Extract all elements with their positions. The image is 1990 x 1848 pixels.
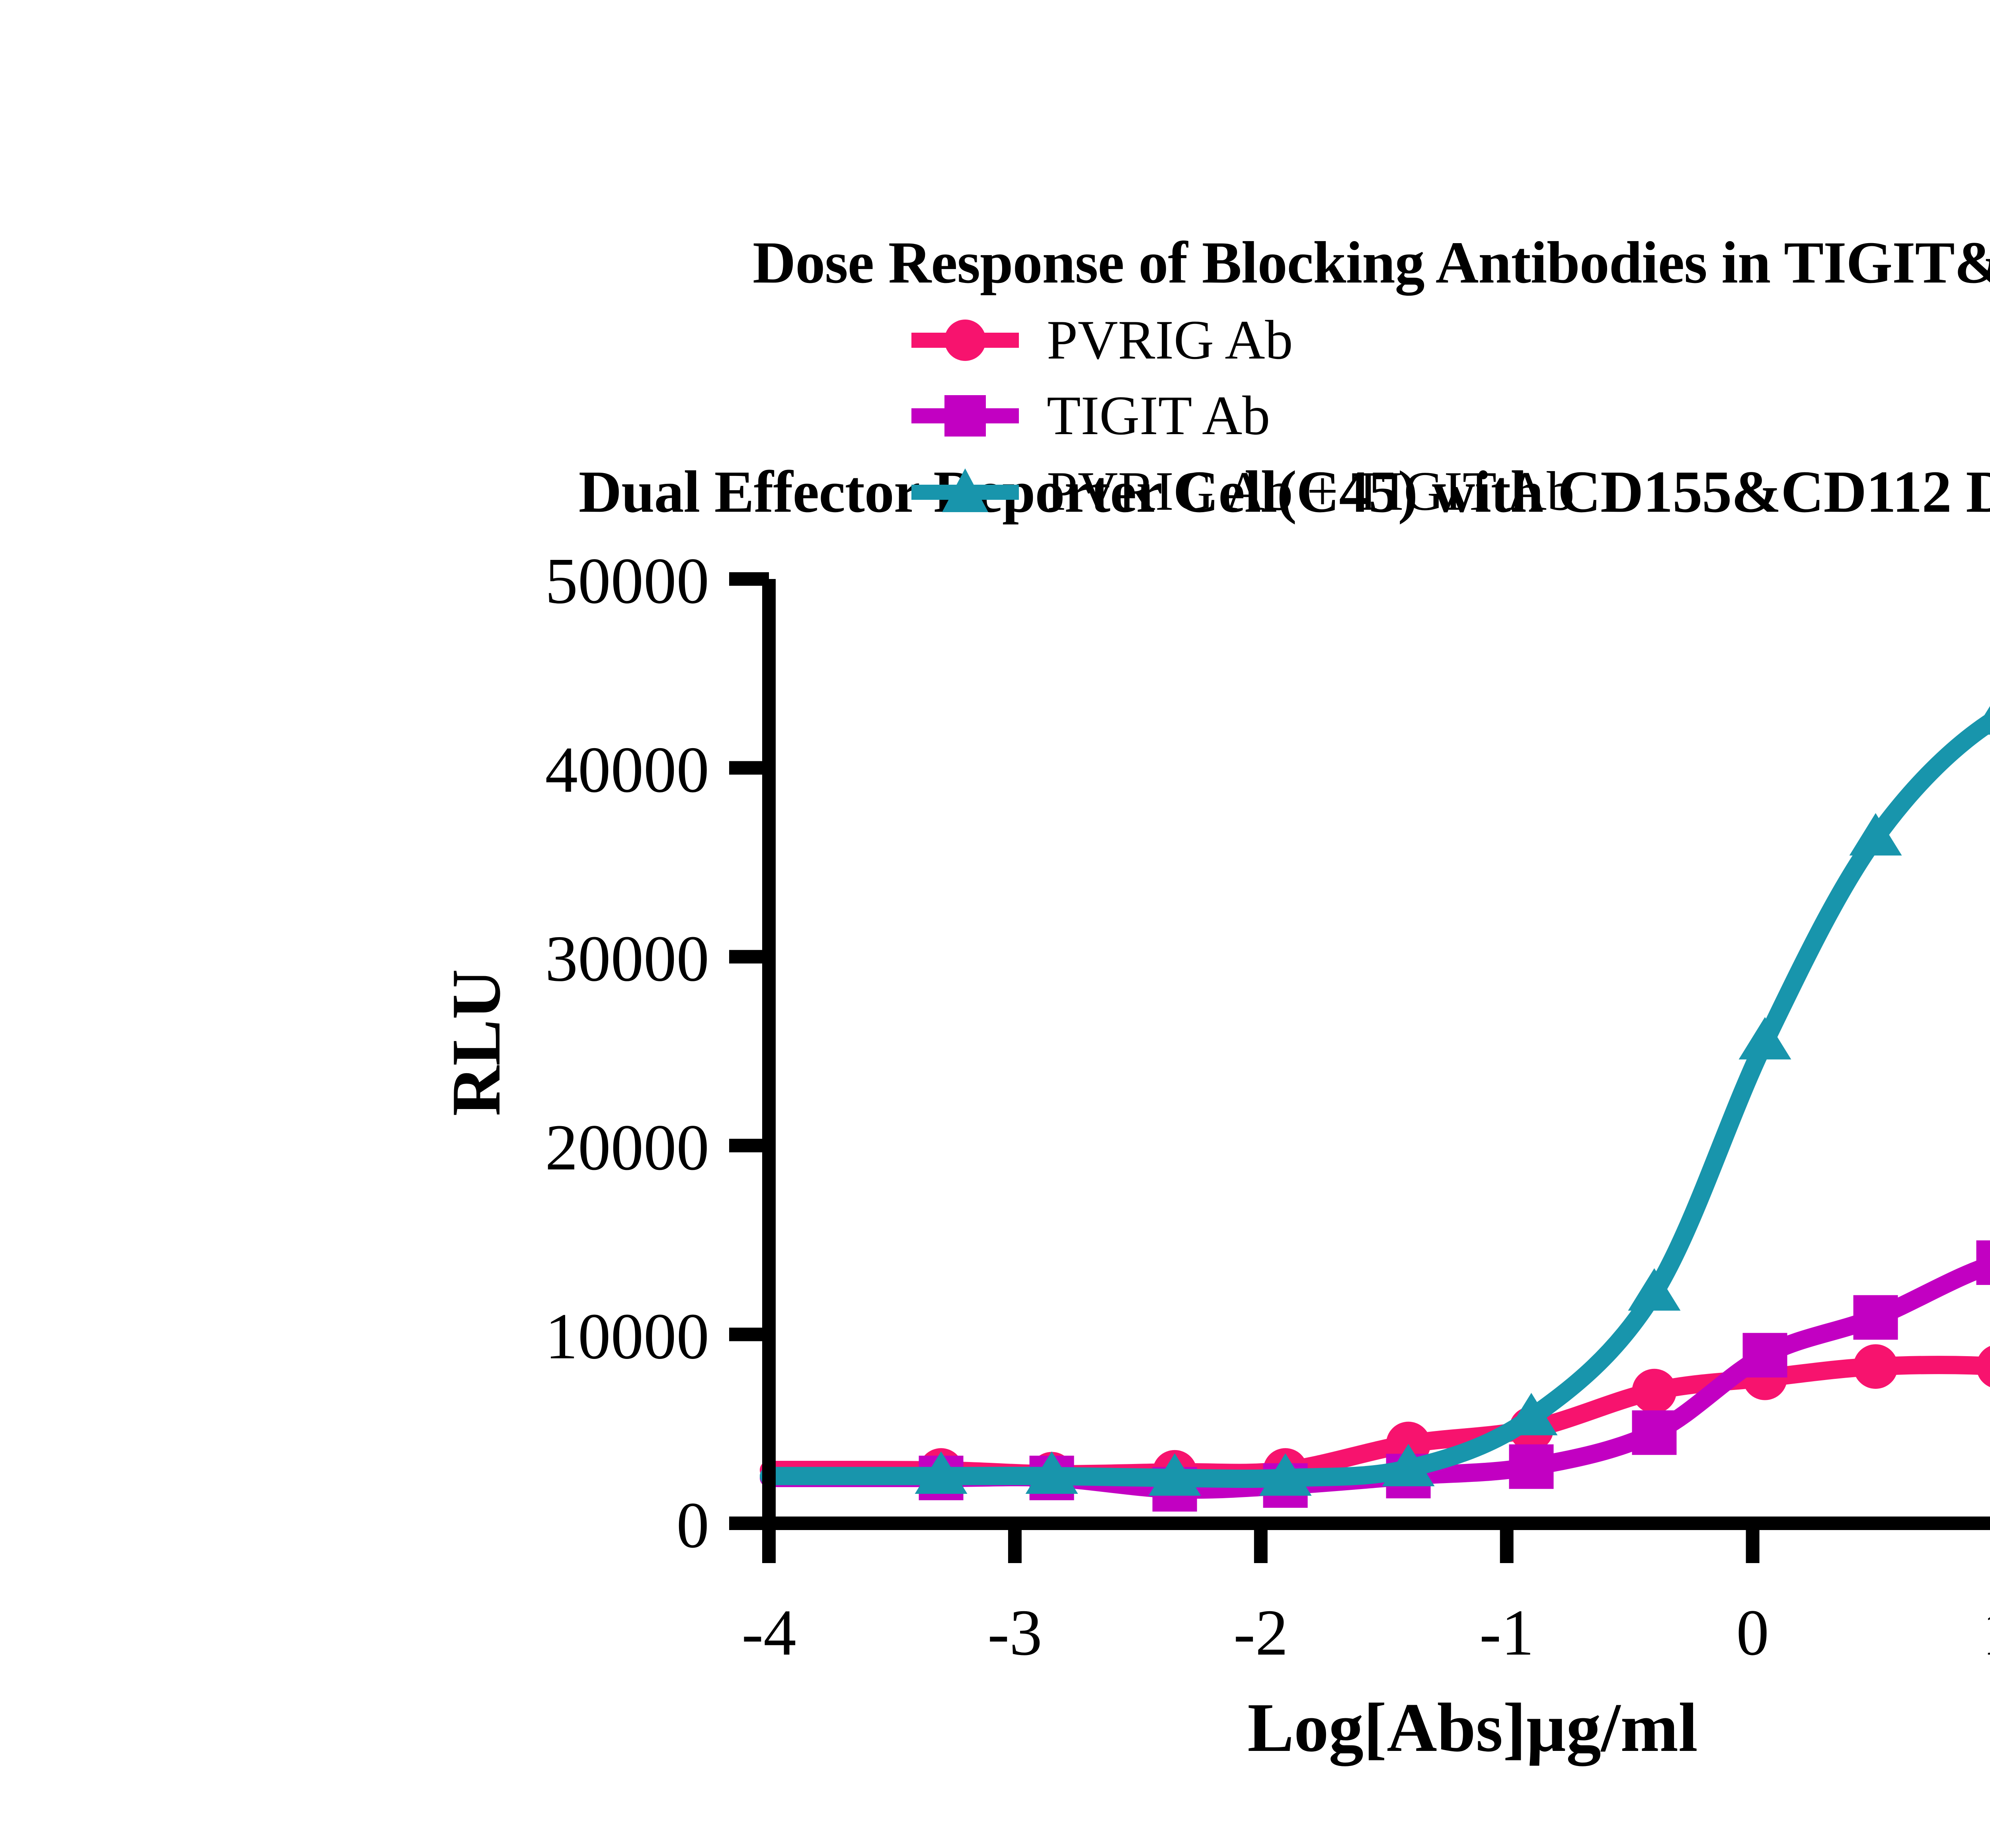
y-tick-label: 0 — [677, 1489, 710, 1561]
x-axis-title: Log[Abs]µg/ml — [1247, 1689, 1697, 1766]
y-tick-label: 20000 — [545, 1111, 710, 1184]
data-point-circle-icon — [1632, 1369, 1676, 1413]
y-tick-label: 40000 — [545, 733, 710, 806]
data-point-square-icon — [1853, 1295, 1898, 1340]
chart-canvas: 01000020000300004000050000 -4-3-2-101 RL… — [0, 0, 1990, 1848]
y-axis-title: RLU — [437, 969, 515, 1116]
data-point-square-icon — [1743, 1333, 1787, 1378]
data-point-square-icon — [1509, 1444, 1554, 1489]
y-tick-label: 10000 — [545, 1300, 710, 1372]
x-tick-label: -3 — [987, 1596, 1042, 1669]
data-point-square-icon — [1976, 1240, 1990, 1285]
series-curve — [769, 687, 1990, 1479]
x-axis-ticks: -4-3-2-101 — [741, 1523, 1990, 1669]
data-point-square-icon — [1632, 1410, 1676, 1455]
x-tick-label: -1 — [1479, 1596, 1534, 1669]
y-tick-label: 50000 — [545, 544, 710, 617]
x-tick-label: -4 — [741, 1596, 796, 1669]
y-axis-ticks: 01000020000300004000050000 — [545, 544, 769, 1561]
x-tick-label: -2 — [1233, 1596, 1288, 1669]
x-tick-label: 0 — [1736, 1596, 1769, 1669]
data-point-circle-icon — [1853, 1344, 1898, 1389]
x-tick-label: 1 — [1982, 1596, 1990, 1669]
chart-figure: Dose Response of Blocking Antibodies in … — [0, 0, 1990, 1848]
series-layer — [769, 662, 1990, 1512]
data-point-circle-icon — [1976, 1344, 1990, 1389]
plot-area: 01000020000300004000050000 -4-3-2-101 RL… — [0, 0, 1990, 1848]
y-tick-label: 30000 — [545, 922, 710, 995]
